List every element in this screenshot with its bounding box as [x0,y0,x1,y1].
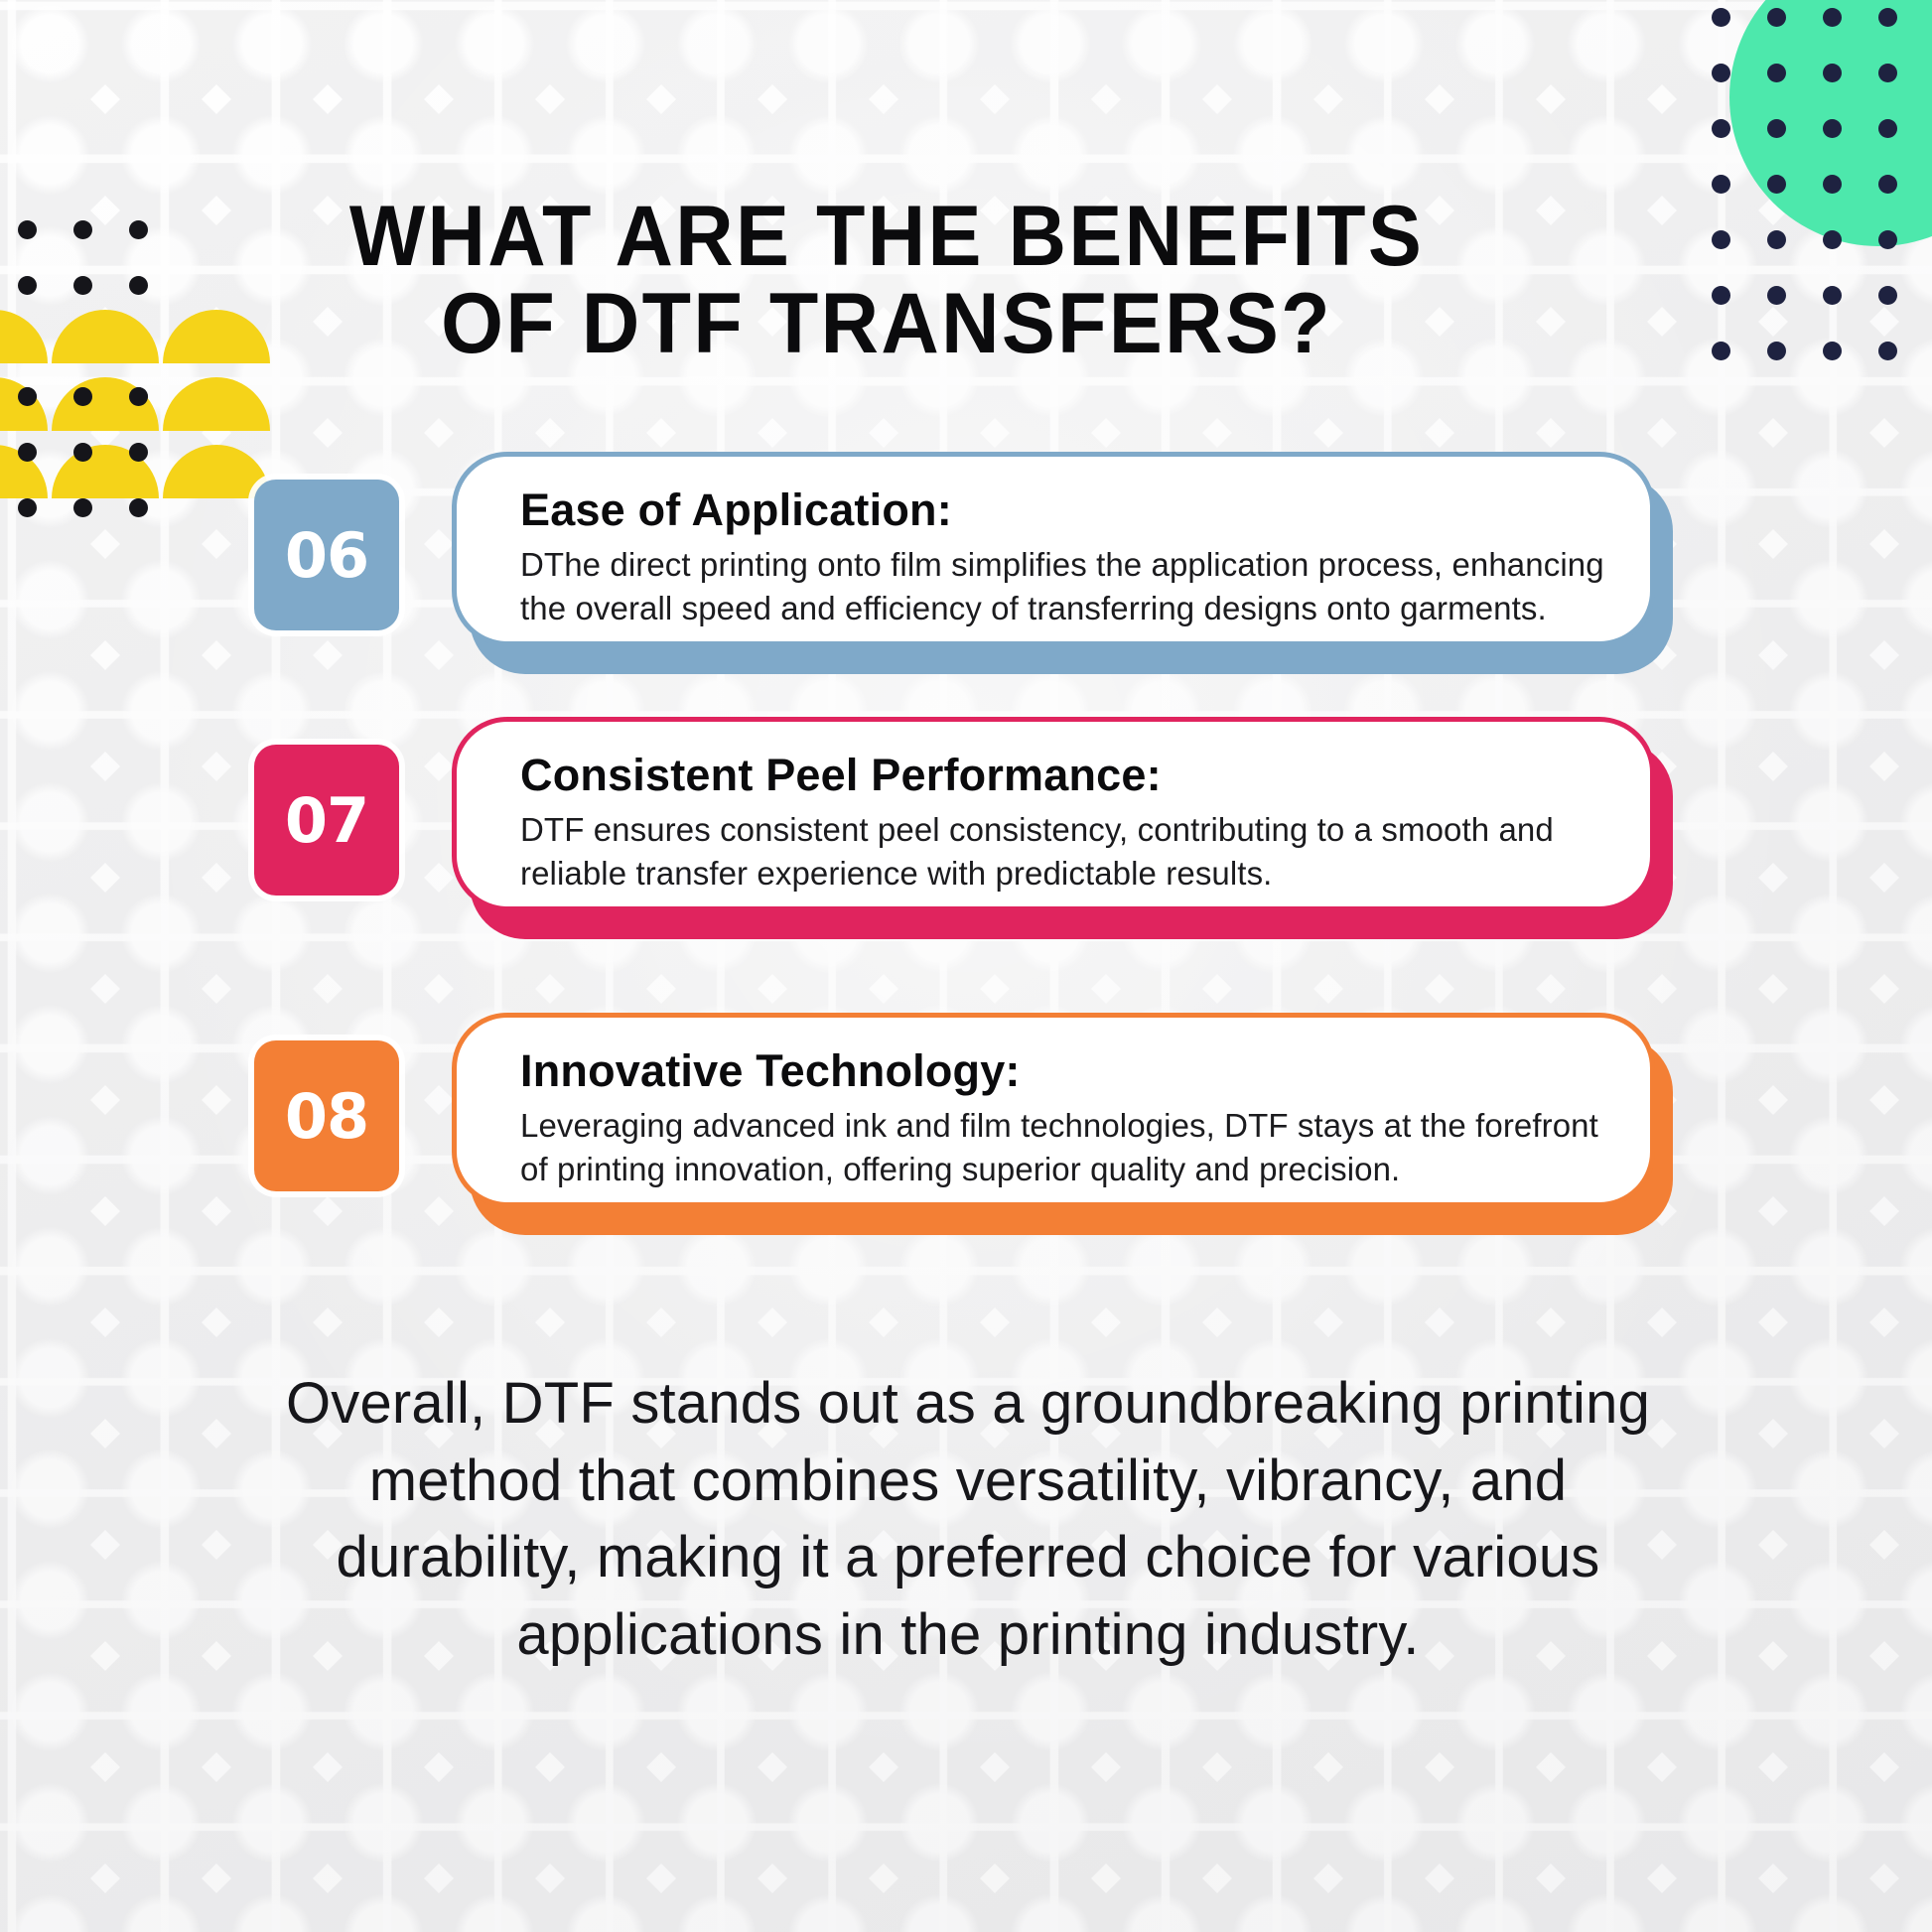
dot [18,498,37,517]
dot [18,443,37,462]
benefit-card-06[interactable]: Ease of Application: DThe direct printin… [452,452,1655,646]
dot [73,498,92,517]
benefit-card-08[interactable]: Innovative Technology: Leveraging advanc… [452,1013,1655,1207]
dot [129,443,148,462]
badge-number-06: 06 [254,480,399,630]
benefit-card-08-wrapper: Innovative Technology: Leveraging advanc… [452,1013,1673,1219]
page-title: What are the benefits of DTF transfers? [280,194,1493,367]
benefit-card-07[interactable]: Consistent Peel Performance: DTF ensures… [452,717,1655,911]
card-body-07: DTF ensures consistent peel consistency,… [520,808,1604,895]
benefit-card-07-wrapper: Consistent Peel Performance: DTF ensures… [452,717,1673,923]
badge-number-08: 08 [254,1040,399,1191]
card-title-06: Ease of Application: [520,486,1604,533]
summary-paragraph: Overall, DTF stands out as a groundbreak… [258,1365,1678,1674]
dot [73,387,92,406]
badge-label: 07 [285,784,368,857]
benefit-row-08: 08 Innovative Technology: Leveraging adv… [0,1013,1932,1221]
dot [129,387,148,406]
badge-number-07: 07 [254,745,399,896]
benefit-row-07: 07 Consistent Peel Performance: DTF ensu… [0,717,1932,925]
card-title-07: Consistent Peel Performance: [520,752,1604,798]
dot [73,443,92,462]
badge-label: 08 [285,1080,368,1153]
infographic-content: What are the benefits of DTF transfers? … [0,0,1932,1932]
dot [18,387,37,406]
card-body-08: Leveraging advanced ink and film technol… [520,1104,1604,1190]
badge-label: 06 [285,519,368,592]
card-title-08: Innovative Technology: [520,1047,1604,1094]
dot [129,498,148,517]
dot-grid-left-overlay [18,387,216,506]
benefit-card-06-wrapper: Ease of Application: DThe direct printin… [452,452,1673,658]
card-body-06: DThe direct printing onto film simplifie… [520,543,1604,629]
benefit-row-06: 06 Ease of Application: DThe direct prin… [0,452,1932,660]
